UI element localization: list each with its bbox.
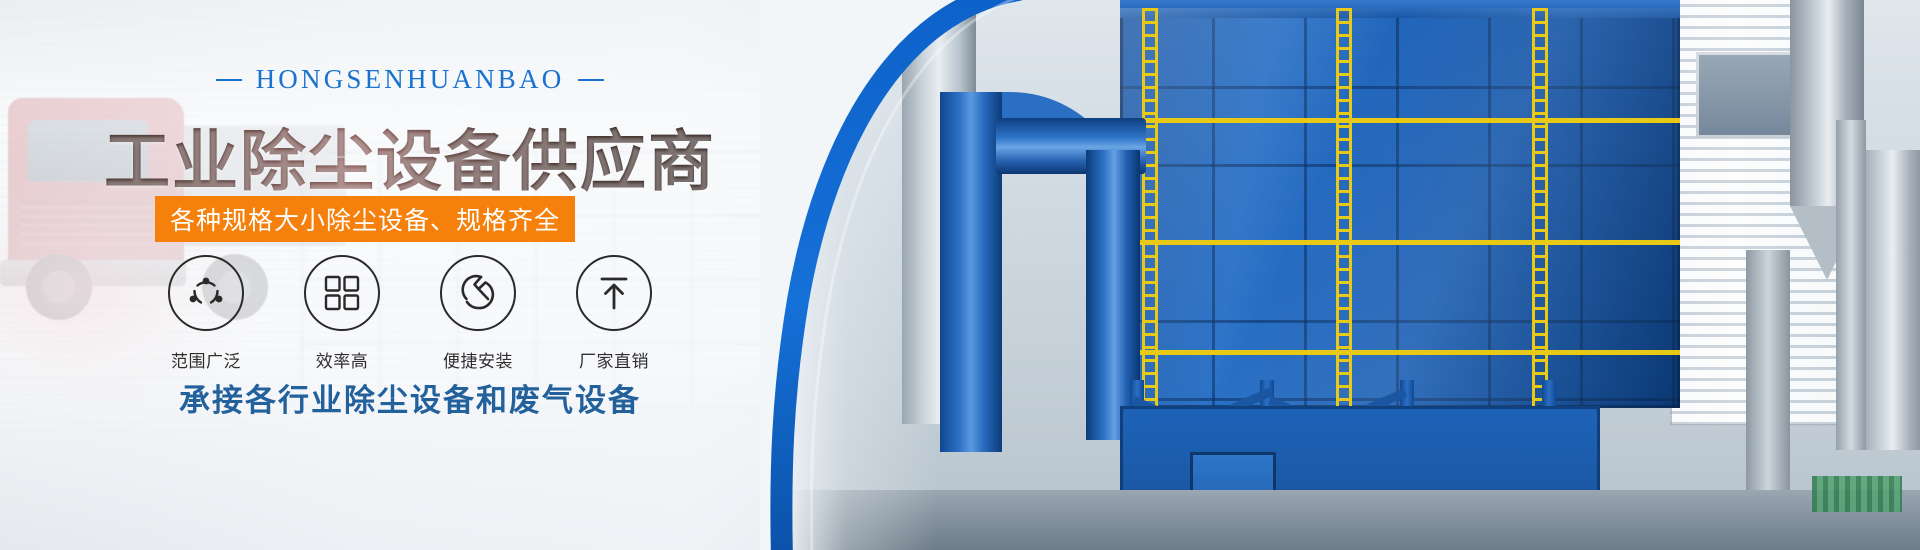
tagline-text: 各种规格大小除尘设备、规格齐全 <box>170 201 560 237</box>
tagline-badge: 各种规格大小除尘设备、规格齐全 <box>155 196 575 242</box>
feature-icon-circle <box>576 255 652 331</box>
feature-list: 范围广泛 效率高 <box>0 255 820 372</box>
eyebrow-dash-right <box>578 79 604 81</box>
arrow-up-to-line-icon <box>595 274 633 312</box>
feature-item-factory-direct[interactable]: 厂家直销 <box>576 255 652 372</box>
hero-content: HONGSENHUANBAO 工业除尘设备供应商 各种规格大小除尘设备、规格齐全 <box>0 0 980 550</box>
wrench-tool-icon <box>457 272 499 314</box>
eyebrow-text: HONGSENHUANBAO <box>256 64 565 95</box>
feature-icon-circle <box>440 255 516 331</box>
feature-item-installation[interactable]: 便捷安装 <box>440 255 516 372</box>
feature-item-range[interactable]: 范围广泛 <box>168 255 244 372</box>
network-share-icon <box>185 272 227 314</box>
eyebrow-dash-left <box>216 79 242 81</box>
feature-label: 效率高 <box>304 347 380 372</box>
feature-label: 范围广泛 <box>168 347 244 372</box>
hero-subline: 承接各行业除尘设备和废气设备 <box>0 375 820 420</box>
feature-item-efficiency[interactable]: 效率高 <box>304 255 380 372</box>
page-title: 工业除尘设备供应商 <box>0 108 820 204</box>
grid-four-squares-icon <box>323 274 361 312</box>
feature-icon-circle <box>168 255 244 331</box>
feature-label: 便捷安装 <box>440 347 516 372</box>
hero-banner: HONGSENHUANBAO 工业除尘设备供应商 各种规格大小除尘设备、规格齐全 <box>0 0 1920 550</box>
feature-label: 厂家直销 <box>576 347 652 372</box>
brand-eyebrow: HONGSENHUANBAO <box>0 64 820 95</box>
feature-icon-circle <box>304 255 380 331</box>
